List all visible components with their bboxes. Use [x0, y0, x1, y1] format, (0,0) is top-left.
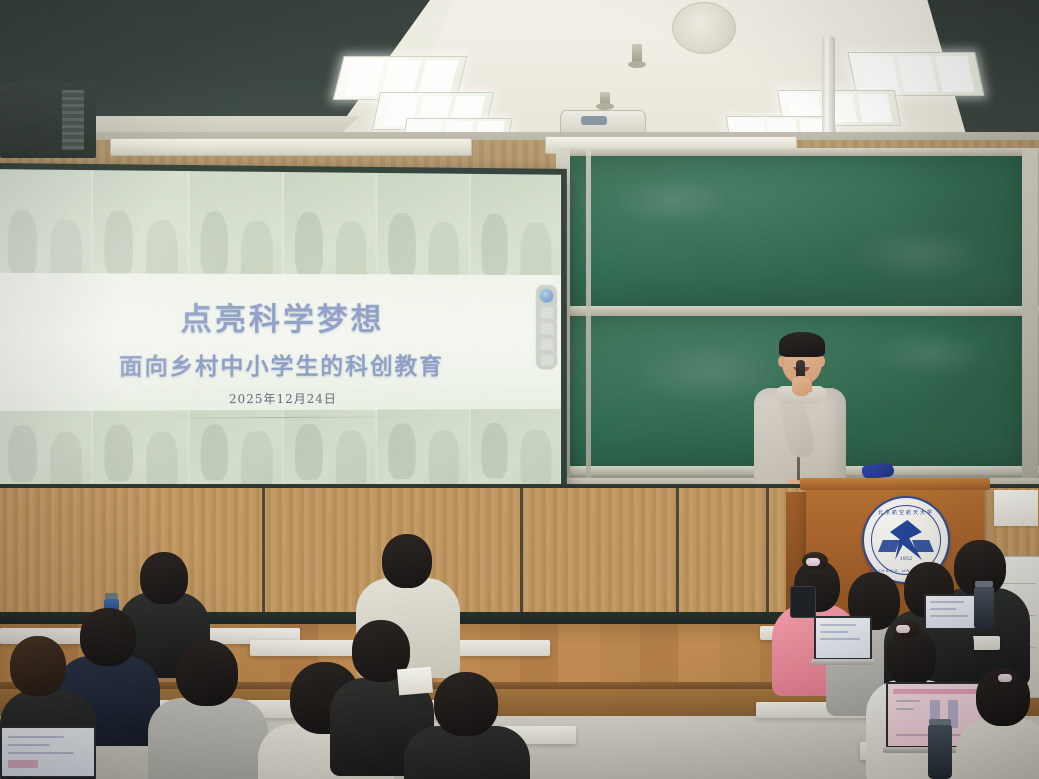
laptop-screen [924, 594, 980, 630]
board-rail-top [556, 148, 1039, 156]
notebook-page [397, 667, 433, 696]
ceiling-speaker-icon [672, 2, 736, 54]
laptop-front-b[interactable] [924, 594, 980, 630]
presenter-hair [779, 332, 825, 357]
emblem-cn-text: 北京航空航天大学 [864, 509, 948, 516]
presenter-hand [792, 376, 810, 396]
presenter-ear [818, 356, 825, 367]
water-bottle-dark [974, 586, 994, 630]
slide-subtitle: 面向乡村中小学生的科创教育 [0, 347, 561, 382]
board-rail-left-inner [586, 148, 591, 478]
podium-top-surface [800, 478, 990, 490]
lecture-hall-photo: 点亮科学梦想 面向乡村中小学生的科创教育 2025年12月24日 [0, 0, 1039, 779]
page-view-icon[interactable] [540, 308, 553, 319]
slide-date: 2025年12月24日 [0, 389, 561, 408]
wall-mounted-av-unit [0, 82, 96, 158]
laptop-left[interactable] [0, 726, 96, 778]
grid-view-icon[interactable] [540, 339, 553, 350]
student-cream-coat [956, 668, 1039, 779]
sprinkler-icon [632, 44, 642, 64]
papers-on-cabinet [994, 490, 1038, 526]
board-rail-middle [556, 306, 1039, 316]
presentation-floating-toolbar[interactable] [536, 285, 557, 370]
board-rail-right [1022, 148, 1038, 478]
curtain-rail [110, 138, 472, 156]
sprinkler-icon [600, 92, 610, 106]
user-avatar-icon[interactable] [540, 289, 554, 303]
laptop-front-a[interactable] [814, 616, 872, 660]
more-options-icon[interactable] [540, 355, 553, 366]
projection-screen: 点亮科学梦想 面向乡村中小学生的科创教育 2025年12月24日 [0, 169, 561, 515]
smartphone[interactable] [790, 586, 816, 618]
laptop-screen [0, 726, 96, 778]
projection-screen-frame: 点亮科学梦想 面向乡村中小学生的科创教育 2025年12月24日 [0, 163, 567, 521]
blackboard-upper-panel [570, 156, 1022, 306]
annotate-icon[interactable] [540, 323, 553, 334]
laptop-screen [814, 616, 872, 660]
slide-title: 点亮科学梦想 [0, 294, 561, 340]
thermos-bottle [928, 724, 952, 779]
student-center-left [148, 640, 268, 779]
presenter-ear [778, 356, 785, 367]
